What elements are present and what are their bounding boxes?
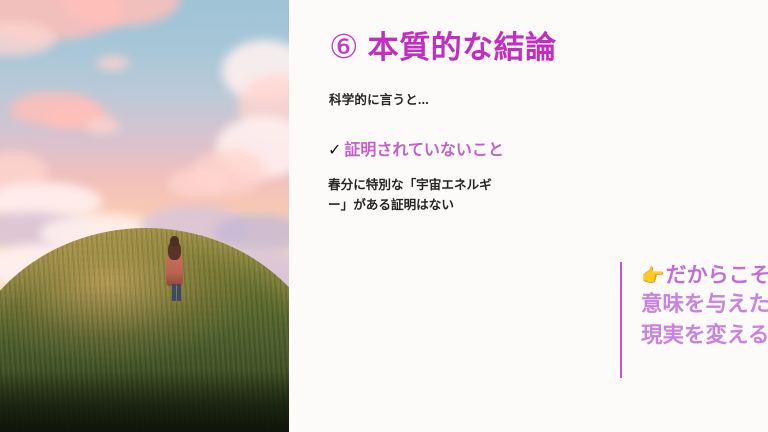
page-title: ⑥ 本質的な結論 bbox=[329, 30, 557, 63]
cloud-shape bbox=[96, 56, 130, 70]
person-silhouette bbox=[170, 236, 179, 247]
unproven-claim-block: ✓証明されていないこと 春分に特別な「宇宙エネルギ ー」がある証明はない bbox=[328, 140, 518, 215]
conclusion-line-2: 意味を与えた人だけが bbox=[641, 289, 768, 320]
unproven-claim-heading: ✓証明されていないこと bbox=[328, 140, 518, 161]
pointing-hand-icon: 👉 bbox=[641, 265, 665, 287]
check-icon: ✓ bbox=[328, 140, 341, 159]
person-silhouette bbox=[172, 284, 176, 301]
content-panel: ⑥ 本質的な結論 科学的に言うと... ✓証明されていないこと 春分に特別な「宇… bbox=[289, 0, 768, 432]
hill-foreground-shadow bbox=[0, 370, 289, 432]
conclusion-line-1-text: だからこそ bbox=[666, 264, 768, 287]
conclusion-block: 👉だからこそ 意味を与えた人だけが 現実を変える可能性は高い♥ bbox=[620, 262, 768, 378]
conclusion-line-3-text: 現実を変える可能性は高い bbox=[641, 323, 768, 347]
hero-photo bbox=[0, 0, 289, 432]
unproven-claim-heading-text: 証明されていないこと bbox=[344, 142, 504, 159]
unproven-claim-body: 春分に特別な「宇宙エネルギ ー」がある証明はない bbox=[328, 176, 512, 215]
page-title-text: 本質的な結論 bbox=[368, 32, 557, 63]
cloud-shape bbox=[168, 168, 228, 198]
cloud-shape bbox=[86, 118, 120, 134]
conclusion-line-1: 👉だからこそ bbox=[641, 262, 768, 289]
conclusion-line-3: 現実を変える可能性は高い♥ bbox=[641, 320, 768, 352]
person-silhouette bbox=[177, 284, 181, 301]
section-number-icon: ⑥ bbox=[329, 30, 359, 63]
unproven-claim-line-2: ー」がある証明はない bbox=[328, 196, 512, 216]
slide-root: ⑥ 本質的な結論 科学的に言うと... ✓証明されていないこと 春分に特別な「宇… bbox=[0, 0, 768, 432]
unproven-claim-line-1: 春分に特別な「宇宙エネルギ bbox=[328, 176, 512, 196]
subtitle-text: 科学的に言うと... bbox=[329, 89, 429, 108]
